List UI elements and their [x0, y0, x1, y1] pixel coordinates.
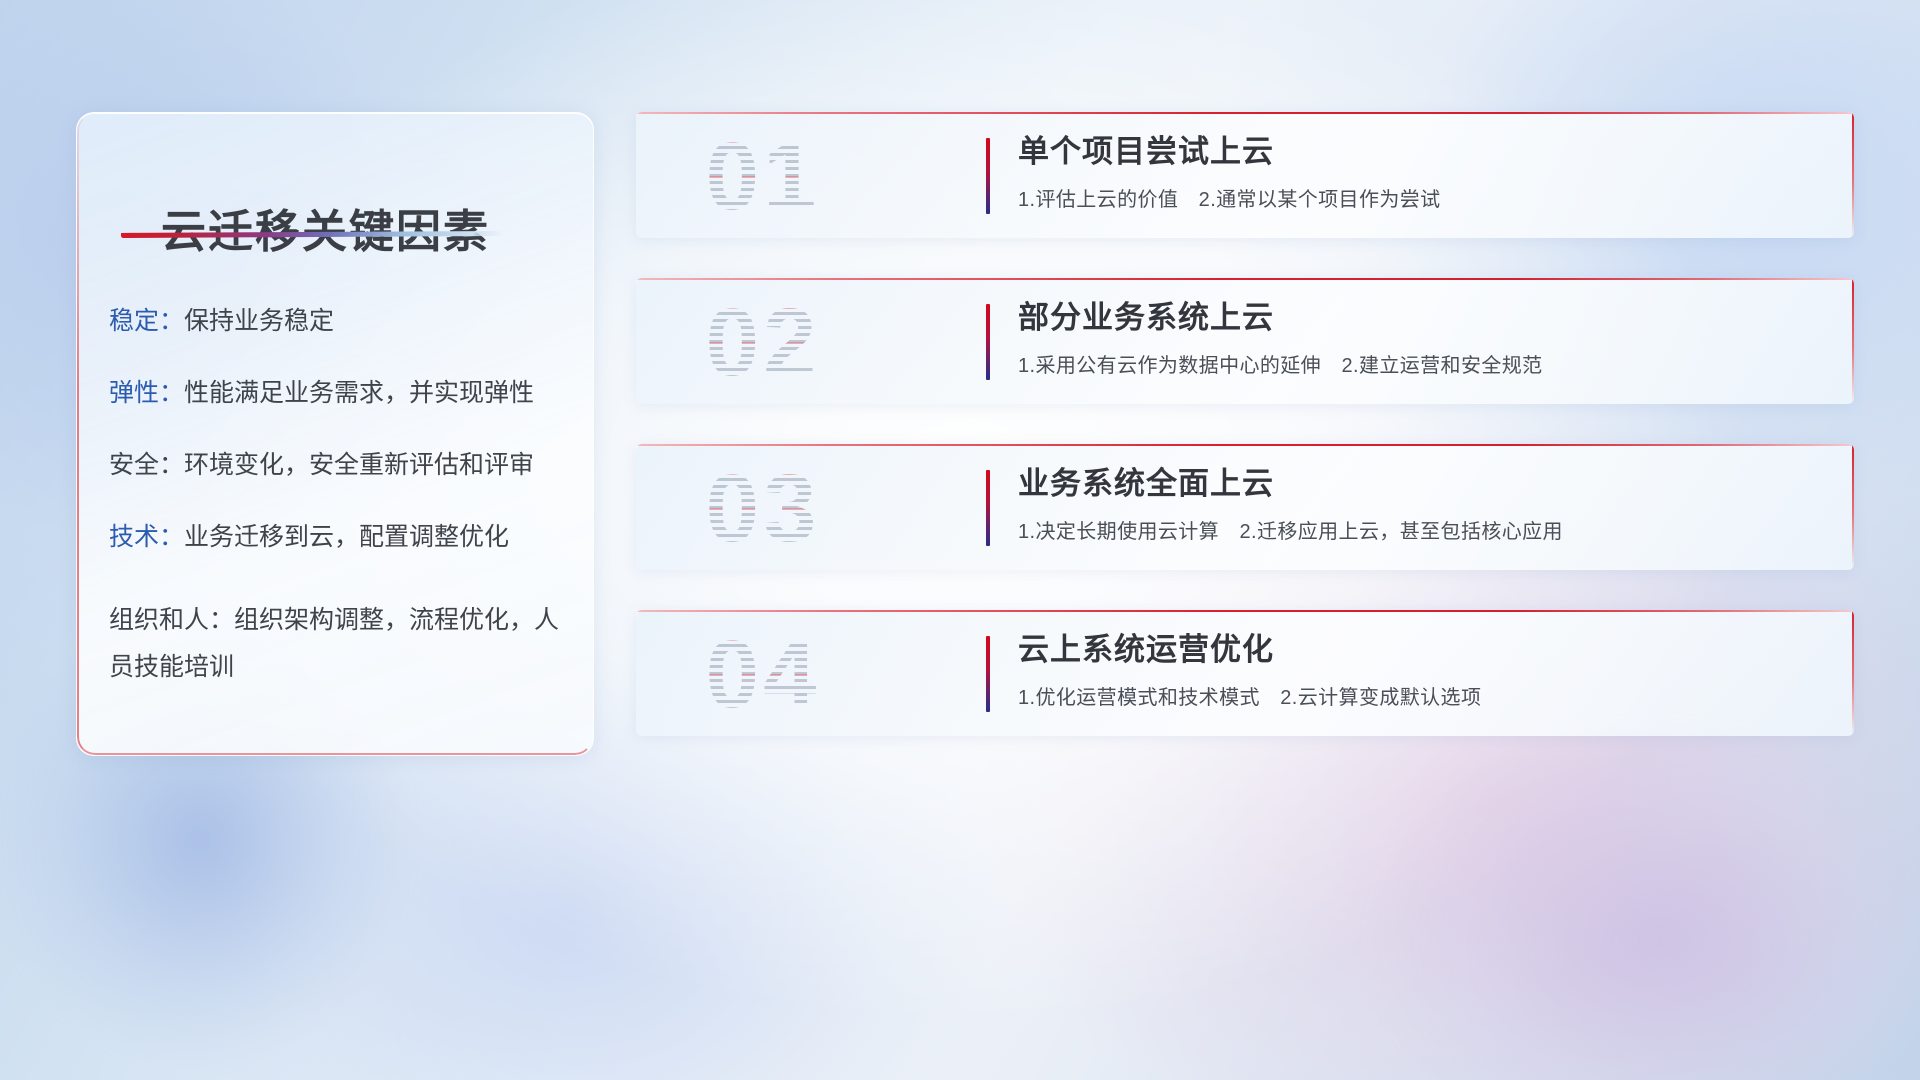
- factor-key: 安全：: [109, 451, 184, 479]
- card-top-rule: [636, 278, 1854, 280]
- stage-heading: 业务系统全面上云: [1018, 466, 1826, 503]
- stage-heading: 单个项目尝试上云: [1018, 134, 1826, 171]
- slide-canvas: 云迁移关键因素 稳定：保持业务稳定 弹性：性能满足业务需求，并实现弹性 安全：环…: [0, 0, 1920, 1080]
- card-side-rule: [1852, 444, 1854, 570]
- stage-accent-bar: [986, 304, 990, 380]
- factor-key: 弹性：: [109, 379, 184, 407]
- stage-detail: 1.评估上云的价值 2.通常以某个项目作为尝试: [1018, 183, 1826, 212]
- stage-number-watermark-accent: 02: [658, 284, 868, 402]
- stage-accent-bar: [986, 470, 990, 546]
- stage-text-block: 单个项目尝试上云 1.评估上云的价值 2.通常以某个项目作为尝试: [1018, 134, 1826, 212]
- stage-cards: 01 01 单个项目尝试上云 1.评估上云的价值 2.通常以某个项目作为尝试 0…: [636, 112, 1854, 776]
- stage-number-watermark: 01: [658, 118, 868, 236]
- factor-value: 性能满足业务需求，并实现弹性: [184, 379, 534, 407]
- stage-accent-bar: [986, 138, 990, 214]
- stage-accent-bar: [986, 636, 990, 712]
- stage-number-watermark: 02: [658, 284, 868, 402]
- stage-detail: 1.优化运营模式和技术模式 2.云计算变成默认选项: [1018, 681, 1826, 710]
- stage-text-block: 业务系统全面上云 1.决定长期使用云计算 2.迁移应用上云，甚至包括核心应用: [1018, 466, 1826, 544]
- list-item: 组织和人：组织架构调整，流程优化，人员技能培训: [109, 597, 571, 690]
- stage-number-watermark-accent: 01: [658, 118, 868, 236]
- factor-value: 环境变化，安全重新评估和评审: [184, 451, 534, 479]
- card-top-rule: [636, 610, 1854, 612]
- stage-card-02[interactable]: 02 02 部分业务系统上云 1.采用公有云作为数据中心的延伸 2.建立运营和安…: [636, 278, 1854, 404]
- stage-number-watermark: 04: [658, 616, 868, 734]
- key-factors-panel: 云迁移关键因素 稳定：保持业务稳定 弹性：性能满足业务需求，并实现弹性 安全：环…: [76, 112, 594, 756]
- stage-card-03[interactable]: 03 03 业务系统全面上云 1.决定长期使用云计算 2.迁移应用上云，甚至包括…: [636, 444, 1854, 570]
- list-item: 技术：业务迁移到云，配置调整优化: [109, 525, 571, 550]
- key-factors-list: 稳定：保持业务稳定 弹性：性能满足业务需求，并实现弹性 安全：环境变化，安全重新…: [109, 309, 571, 737]
- stage-card-04[interactable]: 04 04 云上系统运营优化 1.优化运营模式和技术模式 2.云计算变成默认选项: [636, 610, 1854, 736]
- list-item: 弹性：性能满足业务需求，并实现弹性: [109, 381, 571, 406]
- card-side-rule: [1852, 610, 1854, 736]
- stage-number-watermark: 03: [658, 450, 868, 568]
- card-top-rule: [636, 444, 1854, 446]
- stage-heading: 云上系统运营优化: [1018, 632, 1826, 669]
- stage-detail: 1.决定长期使用云计算 2.迁移应用上云，甚至包括核心应用: [1018, 515, 1826, 544]
- page-title: 云迁移关键因素: [161, 195, 490, 260]
- factor-key: 稳定：: [109, 307, 184, 335]
- stage-detail: 1.采用公有云作为数据中心的延伸 2.建立运营和安全规范: [1018, 349, 1826, 378]
- stage-heading: 部分业务系统上云: [1018, 300, 1826, 337]
- stage-number-watermark-accent: 04: [658, 616, 868, 734]
- stage-card-01[interactable]: 01 01 单个项目尝试上云 1.评估上云的价值 2.通常以某个项目作为尝试: [636, 112, 1854, 238]
- factor-key: 技术：: [109, 523, 184, 551]
- list-item: 安全：环境变化，安全重新评估和评审: [109, 453, 571, 478]
- factor-key: 组织和人：: [109, 606, 234, 634]
- stage-text-block: 云上系统运营优化 1.优化运营模式和技术模式 2.云计算变成默认选项: [1018, 632, 1826, 710]
- stage-text-block: 部分业务系统上云 1.采用公有云作为数据中心的延伸 2.建立运营和安全规范: [1018, 300, 1826, 378]
- factor-value: 保持业务稳定: [184, 307, 334, 335]
- card-side-rule: [1852, 112, 1854, 238]
- factor-value: 业务迁移到云，配置调整优化: [184, 523, 509, 551]
- card-top-rule: [636, 112, 1854, 114]
- card-side-rule: [1852, 278, 1854, 404]
- stage-number-watermark-accent: 03: [658, 450, 868, 568]
- list-item: 稳定：保持业务稳定: [109, 309, 571, 334]
